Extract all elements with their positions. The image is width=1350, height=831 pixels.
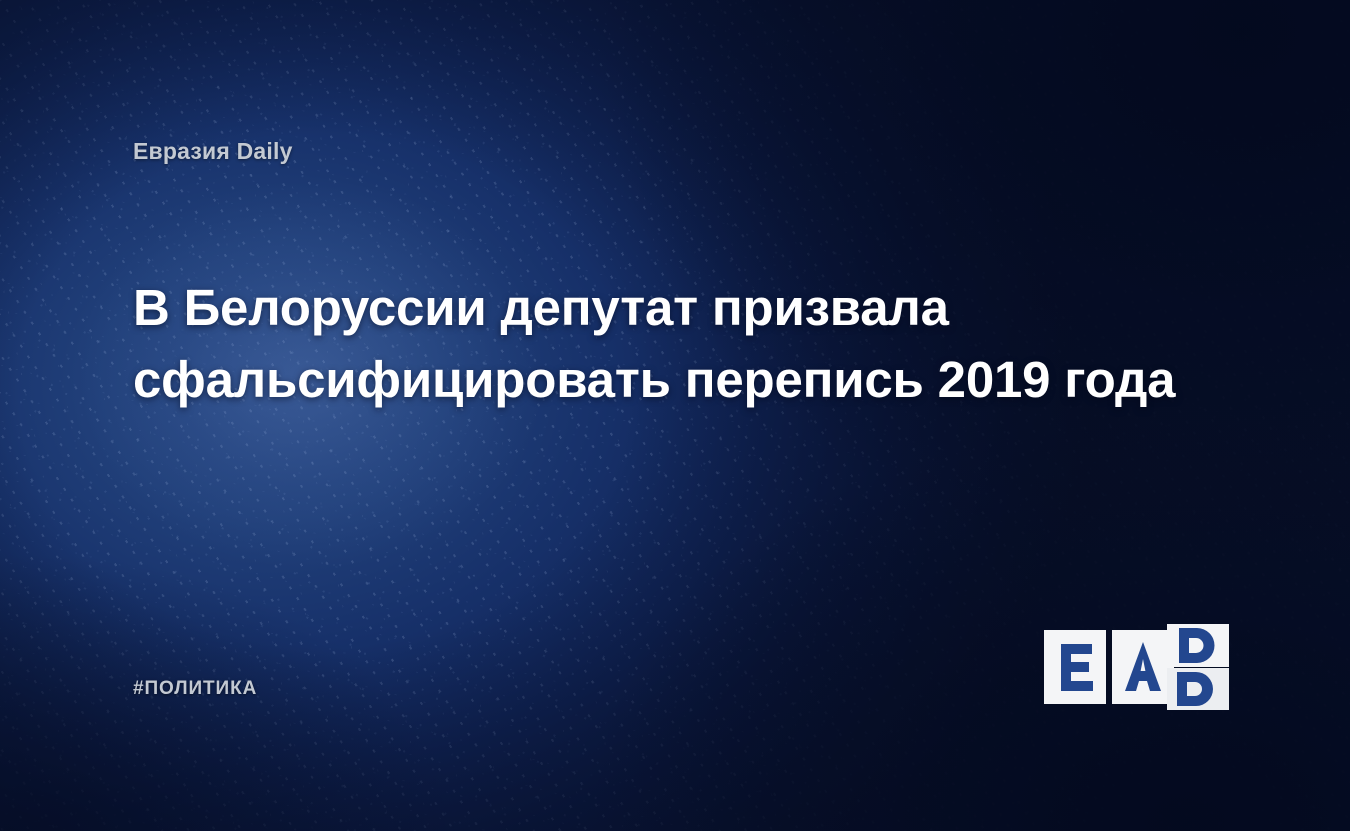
headline: В Белоруссии депутат призвала сфальсифиц… [133, 272, 1243, 417]
source-label: Евразия Daily [133, 138, 293, 165]
card-content: Евразия Daily В Белоруссии депутат призв… [0, 0, 1350, 831]
eadaily-logo[interactable] [1044, 624, 1229, 710]
news-card: Евразия Daily В Белоруссии депутат призв… [0, 0, 1350, 831]
eadaily-logo-icon [1044, 624, 1229, 710]
category-tag[interactable]: #ПОЛИТИКА [133, 678, 257, 700]
